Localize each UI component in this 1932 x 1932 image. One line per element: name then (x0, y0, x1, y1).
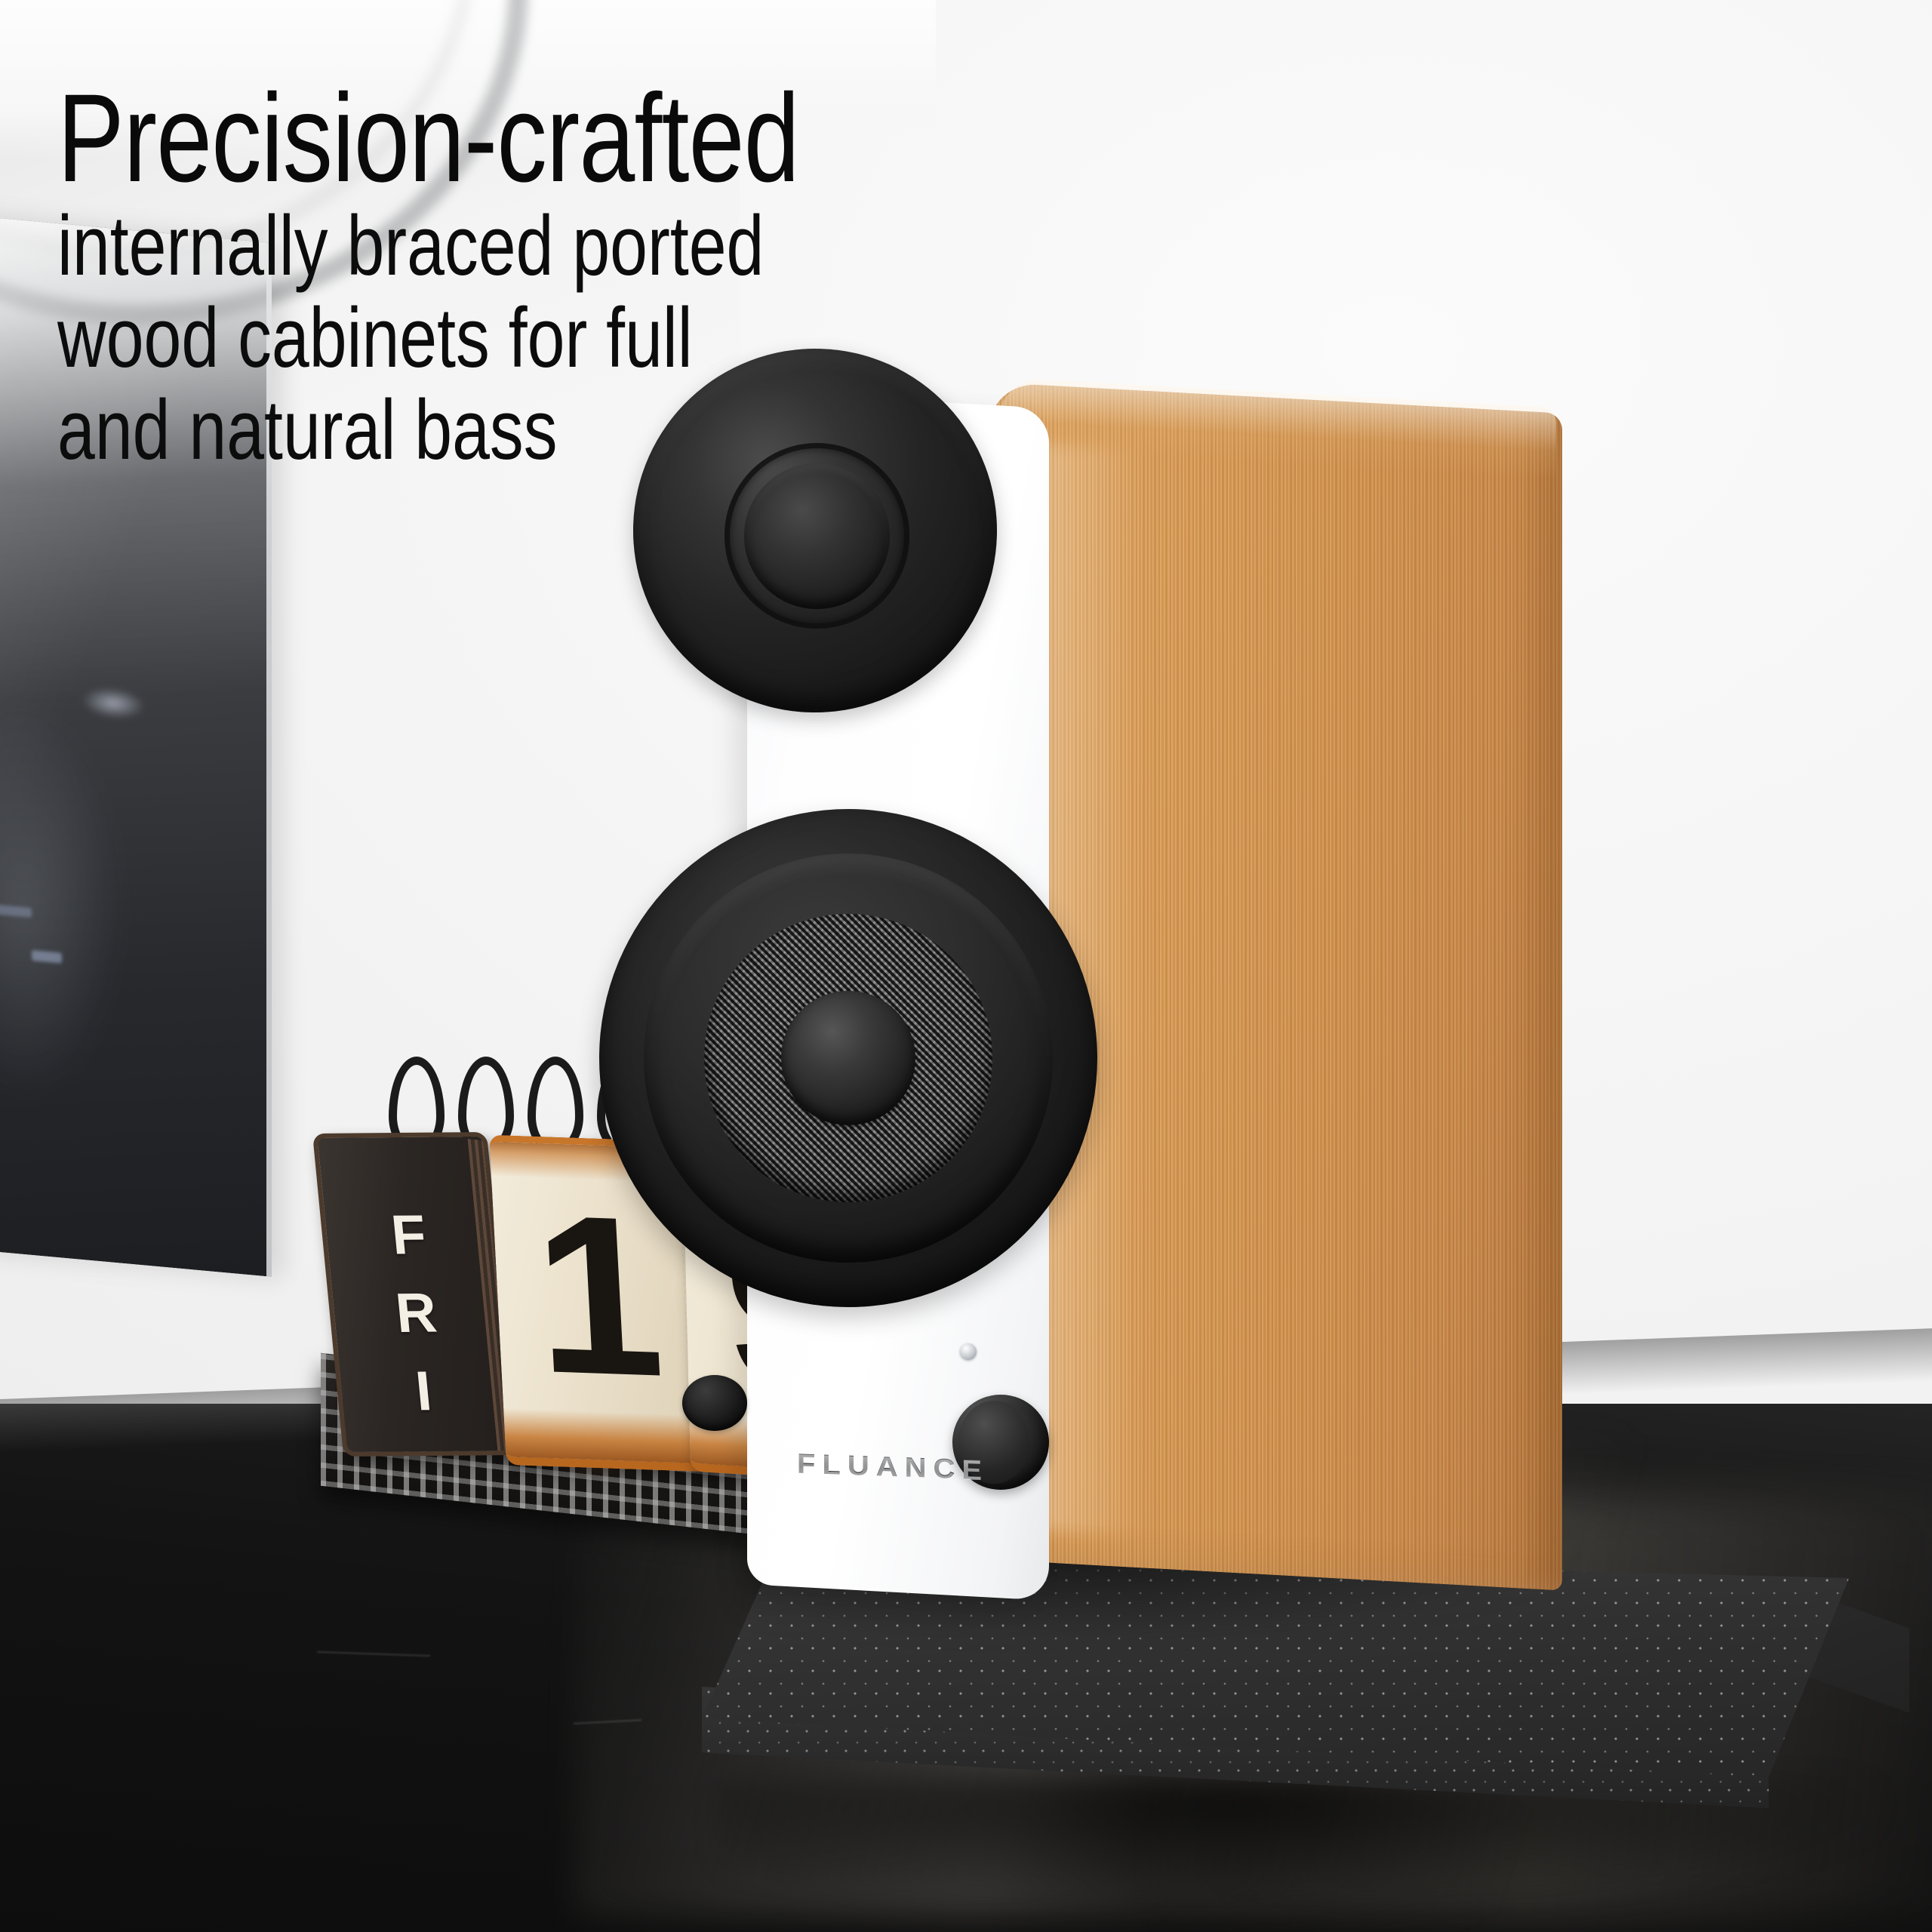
speaker-baffle-face: FLUANCE (758, 417, 1038, 1579)
bookshelf-speaker: FLUANCE (747, 400, 1804, 1623)
tweeter-dome (744, 463, 890, 609)
subheadline-line-2: wood cabinets for full (57, 293, 891, 383)
status-led-indicator (960, 1343, 977, 1360)
brand-badge: FLUANCE (797, 1448, 989, 1486)
woofer-dust-cap (781, 991, 915, 1125)
calendar-day-letter-2: R (331, 1273, 503, 1352)
subheadline-line-1: internally braced ported (57, 201, 891, 291)
subheadline-line-3: and natural bass (57, 385, 891, 475)
woofer-driver (599, 809, 1097, 1307)
marketing-copy-block: Precision-crafted internally braced port… (57, 82, 1099, 475)
headline: Precision-crafted (57, 82, 891, 196)
calendar-day-card: F R I (312, 1132, 518, 1457)
calendar-day-letter-3: I (338, 1352, 511, 1431)
ir-remote-sensor (682, 1375, 747, 1431)
desk-scratch (317, 1651, 430, 1657)
calendar-day-letter-1: F (323, 1195, 496, 1275)
product-marketing-image: F R I 1 9 (0, 0, 1932, 1932)
calendar-card-rust-bottom (503, 1408, 709, 1463)
